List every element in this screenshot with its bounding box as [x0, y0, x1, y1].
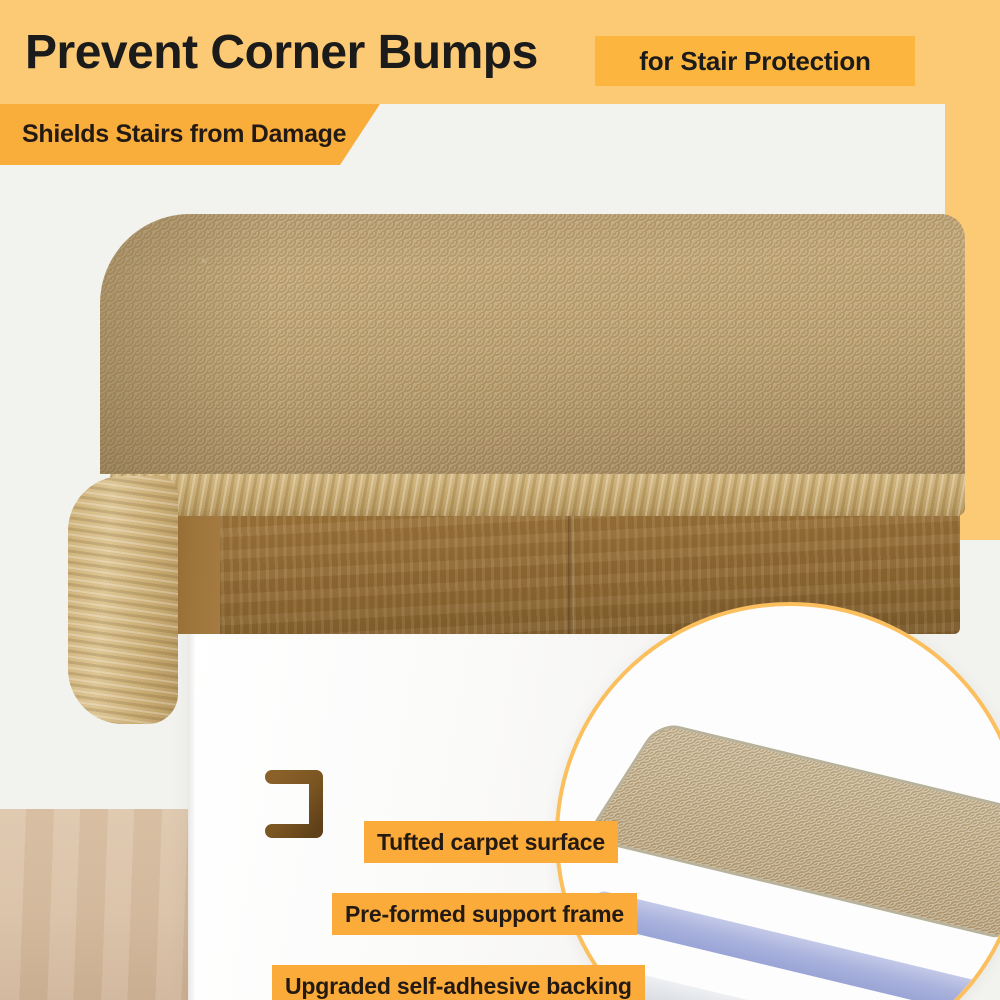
subtitle-ribbon: Shields Stairs from Damage — [0, 104, 380, 165]
callout-pre-formed-support-frame: Pre-formed support frame — [332, 893, 637, 935]
page-title: Prevent Corner Bumps — [25, 27, 538, 79]
product-photo-scene: Tufted carpet surface Pre-formed support… — [0, 104, 1000, 1000]
wood-floor — [0, 809, 195, 1000]
callout-label: Upgraded self-adhesive backing — [285, 973, 632, 1000]
title-badge: for Stair Protection — [595, 36, 915, 86]
title-badge-label: for Stair Protection — [639, 46, 870, 77]
callout-tufted-carpet-surface: Tufted carpet surface — [364, 821, 618, 863]
carpet-shadow-overlay — [100, 214, 270, 474]
stair-riser-edge — [188, 619, 196, 1000]
subtitle-ribbon-label: Shields Stairs from Damage — [22, 120, 346, 149]
callout-upgraded-self-adhesive-backing: Upgraded self-adhesive backing — [272, 965, 645, 1000]
header-band: Prevent Corner Bumps for Stair Protectio… — [0, 0, 1000, 104]
rope-nosing-corner-cap — [68, 476, 178, 724]
promo-banner: Tufted carpet surface Pre-formed support… — [0, 0, 1000, 1000]
callout-label: Pre-formed support frame — [345, 901, 624, 928]
callout-label: Tufted carpet surface — [377, 829, 605, 856]
